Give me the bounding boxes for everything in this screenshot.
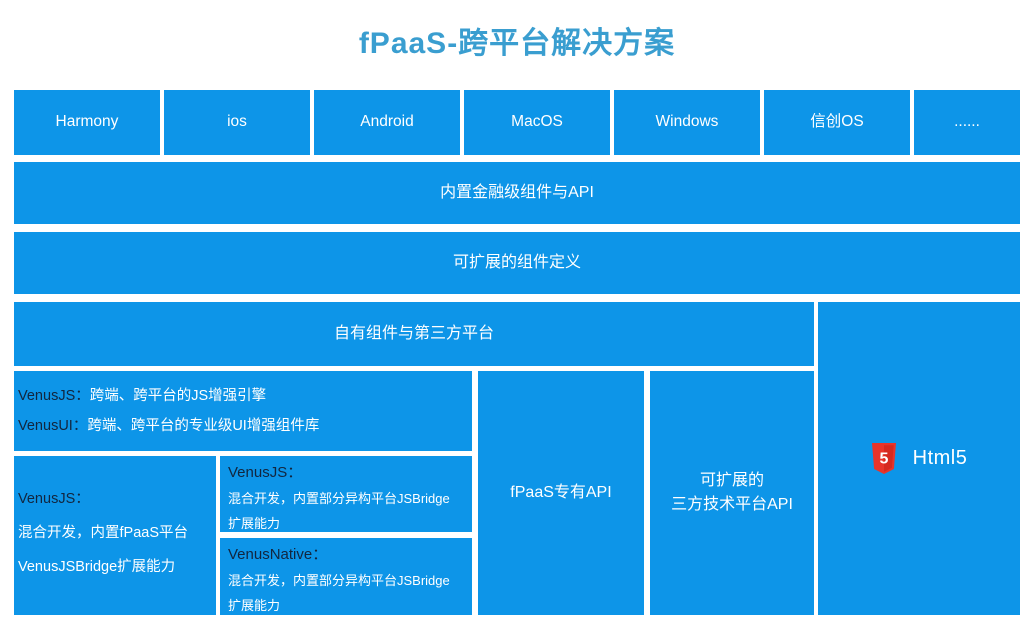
layer-builtin-financial-components[interactable]: 内置金融级组件与API (14, 162, 1020, 224)
platform-label: MacOS (511, 111, 563, 133)
platform-box-macos[interactable]: MacOS (464, 90, 610, 155)
api-label-line-1: 可扩展的 (700, 469, 764, 493)
venusjs-key: VenusJS： (18, 482, 212, 516)
layer-label: 自有组件与第三方平台 (334, 322, 494, 345)
venusui-value: 跨端、跨平台的专业级UI增强组件库 (87, 418, 319, 434)
venusjs-heterogeneous-cell[interactable]: VenusJS： 混合开发，内置部分异构平台JSBridge 扩展能力 (220, 456, 472, 532)
cell-head: VenusNative： (228, 542, 468, 568)
platform-box-harmony[interactable]: Harmony (14, 90, 160, 155)
page-title: fPaaS-跨平台解决方案 (0, 18, 1034, 62)
html5-column[interactable]: 5 Html5 (818, 302, 1020, 615)
cell-body-line-2: 扩展能力 (228, 593, 468, 615)
cell-head: VenusJS： (228, 460, 468, 486)
thirdparty-platform-api-column[interactable]: 可扩展的 三方技术平台API (650, 371, 814, 615)
diagram-canvas: fPaaS-跨平台解决方案 Harmony ios Android MacOS … (0, 0, 1034, 634)
html5-label: Html5 (913, 444, 968, 473)
cell-body-line-2: 扩展能力 (228, 511, 468, 532)
venusjs-key: VenusJS： (18, 388, 90, 404)
platform-box-android[interactable]: Android (314, 90, 460, 155)
html5-shield-icon: 5 (871, 443, 897, 474)
platform-label: Harmony (56, 111, 119, 133)
venusui-key: VenusUI： (18, 418, 87, 434)
html5-content: 5 Html5 (871, 443, 968, 474)
venusjs-value-line-1: 混合开发，内置fPaaS平台 (18, 516, 212, 550)
api-label-line-2: 三方技术平台API (671, 493, 793, 517)
api-label-line-1: fPaaS专有API (510, 481, 611, 505)
platform-box-windows[interactable]: Windows (614, 90, 760, 155)
platform-box-xinchuangos[interactable]: 信创OS (764, 90, 910, 155)
svg-text:5: 5 (879, 451, 888, 468)
cell-body-line-1: 混合开发，内置部分异构平台JSBridge (228, 486, 468, 511)
venusjs-value-line-2: VenusJSBridge扩展能力 (18, 550, 212, 584)
venusjs-hybrid-cell[interactable]: VenusJS： 混合开发，内置fPaaS平台 VenusJSBridge扩展能… (14, 456, 216, 615)
layer-extensible-component-definition[interactable]: 可扩展的组件定义 (14, 232, 1020, 294)
platform-label: Windows (656, 111, 719, 133)
platform-label: ios (227, 111, 247, 133)
venus-description-block[interactable]: VenusJS：跨端、跨平台的JS增强引擎 VenusUI：跨端、跨平台的专业级… (14, 371, 472, 451)
venus-description-line: VenusUI：跨端、跨平台的专业级UI增强组件库 (18, 411, 468, 441)
fpaas-proprietary-api-column[interactable]: fPaaS专有API (478, 371, 644, 615)
venusnative-heterogeneous-cell[interactable]: VenusNative： 混合开发，内置部分异构平台JSBridge 扩展能力 (220, 538, 472, 615)
layer-label: 可扩展的组件定义 (453, 251, 581, 274)
platform-label: ...... (954, 111, 980, 133)
cell-body-line-1: 混合开发，内置部分异构平台JSBridge (228, 568, 468, 593)
venus-description-line: VenusJS：跨端、跨平台的JS增强引擎 (18, 381, 468, 411)
platform-box-more[interactable]: ...... (914, 90, 1020, 155)
layer-own-and-thirdparty-components[interactable]: 自有组件与第三方平台 (14, 302, 814, 366)
platform-label: 信创OS (810, 111, 863, 133)
layer-label: 内置金融级组件与API (440, 181, 594, 204)
platform-box-ios[interactable]: ios (164, 90, 310, 155)
platform-label: Android (360, 111, 413, 133)
venusjs-value: 跨端、跨平台的JS增强引擎 (90, 388, 266, 404)
